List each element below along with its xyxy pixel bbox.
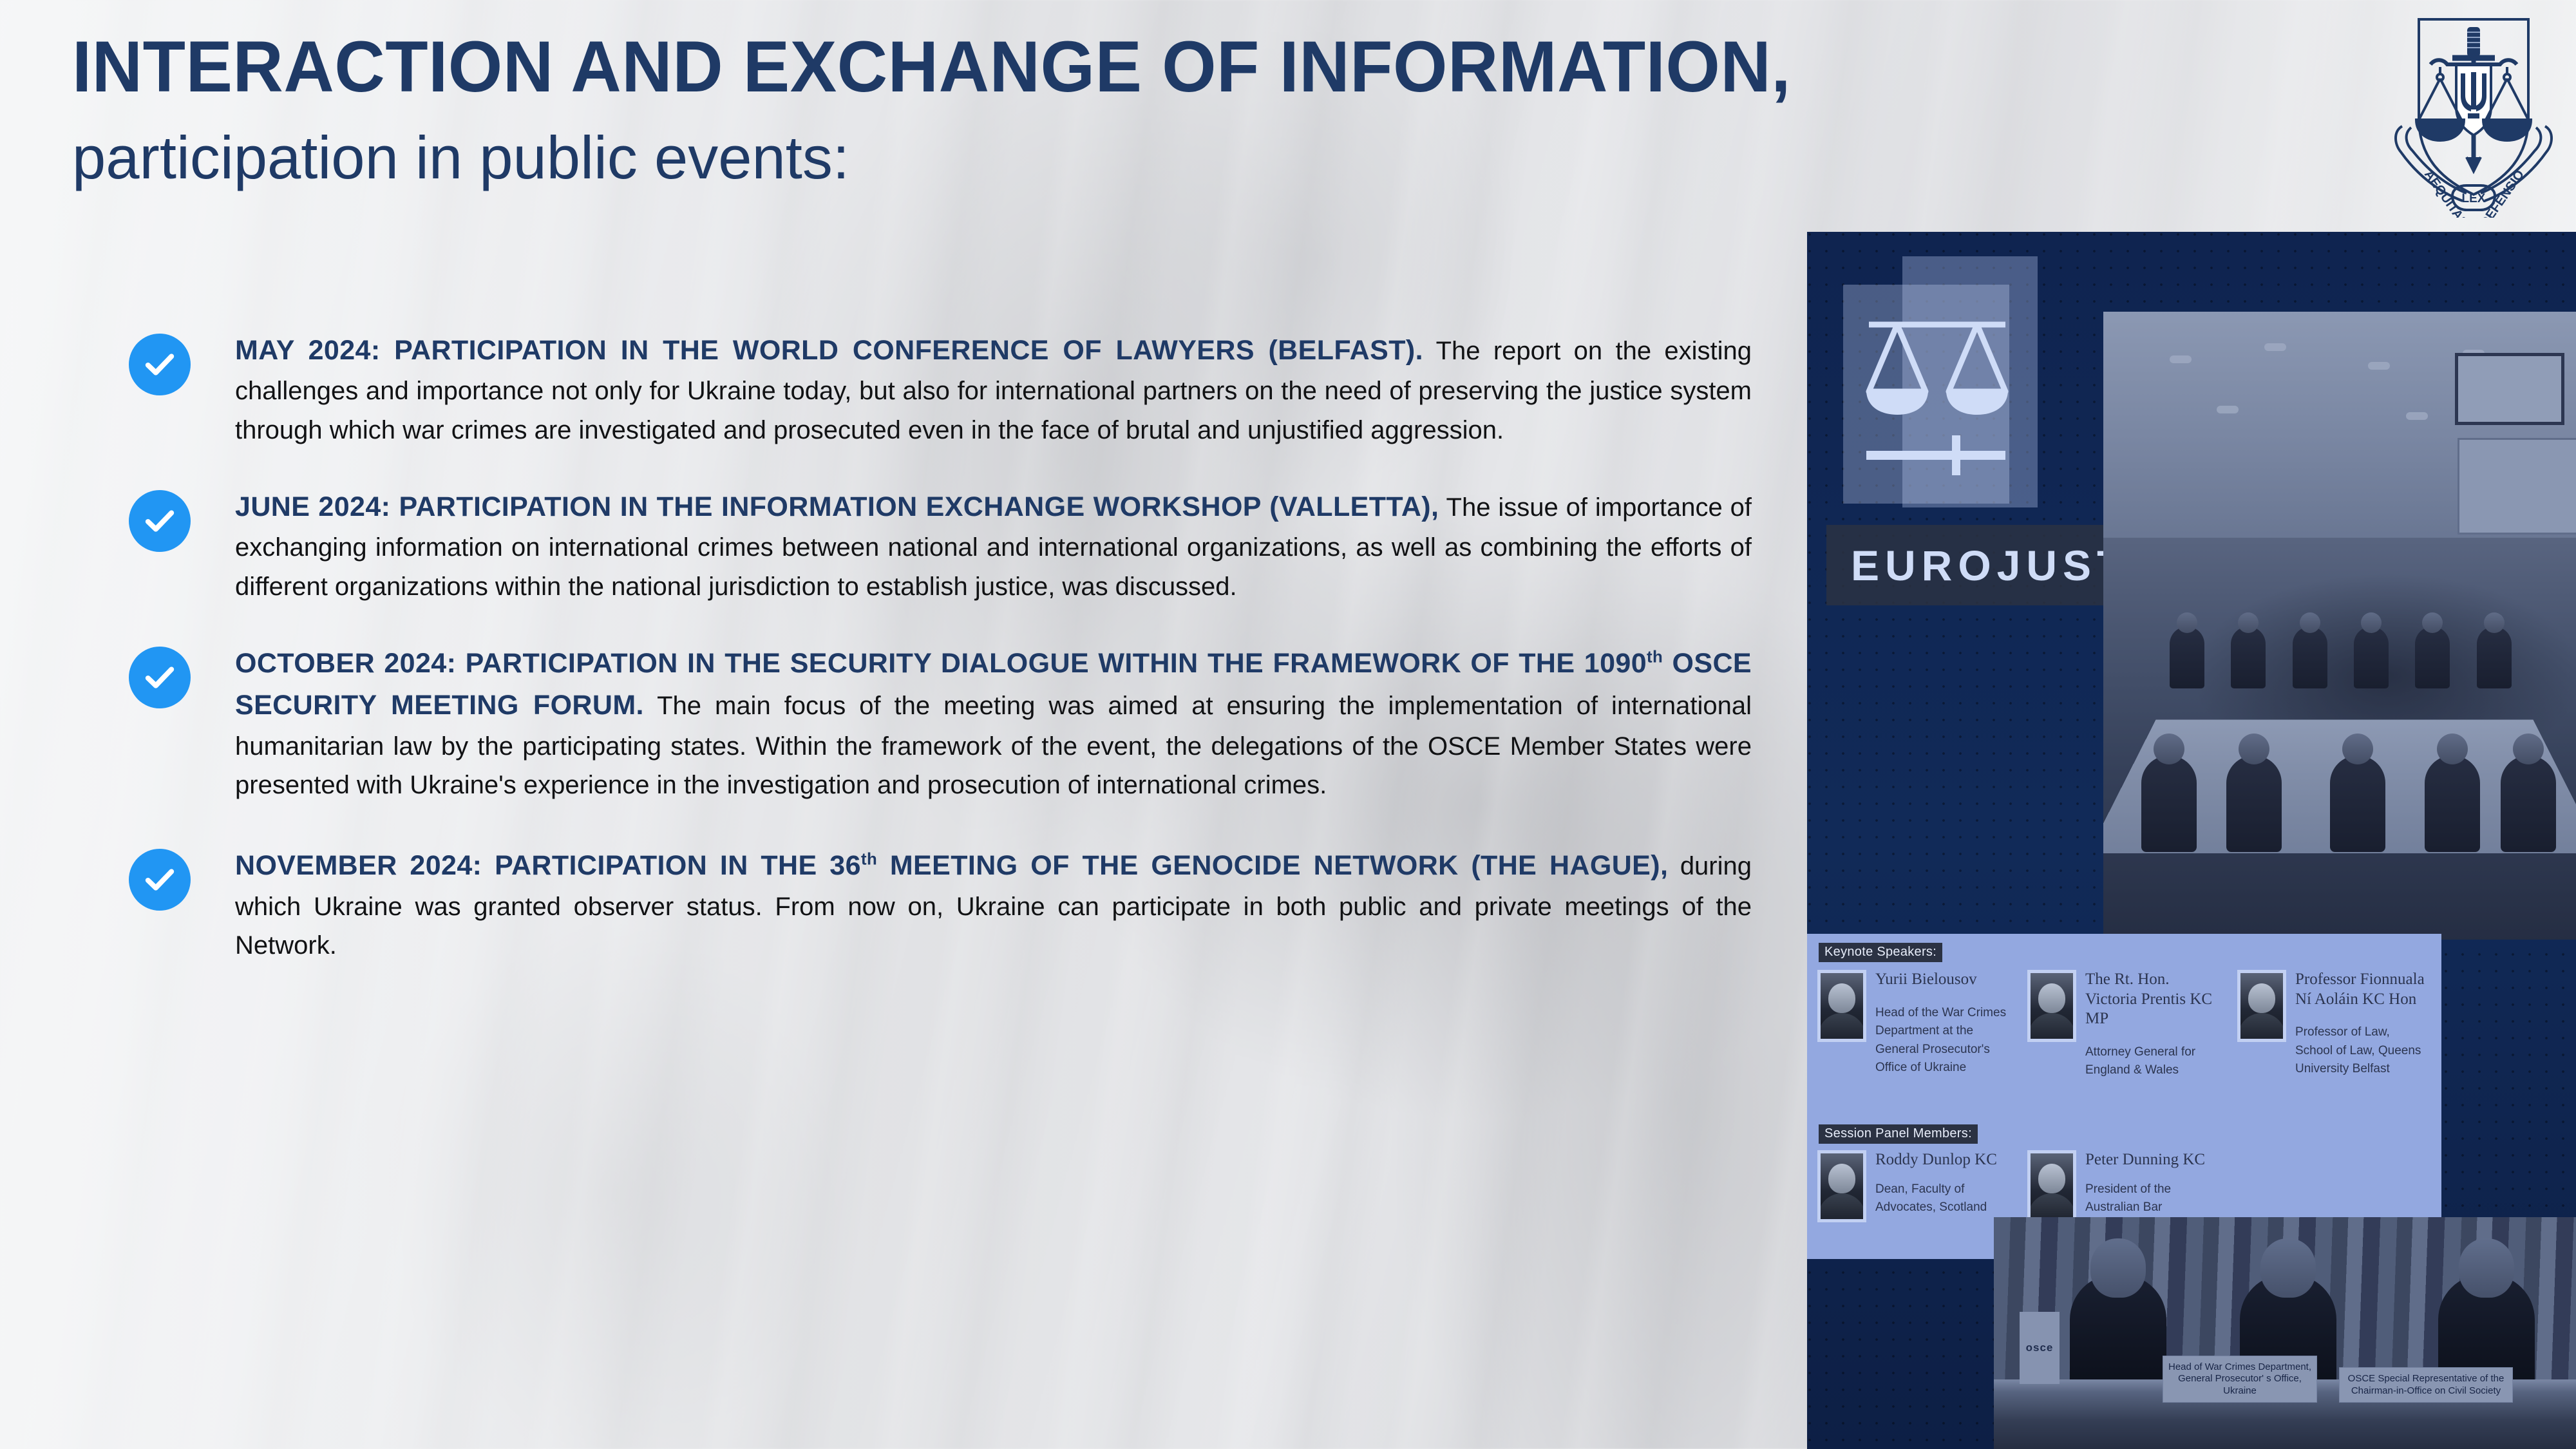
speaker-role: Attorney General for England & Wales: [2085, 1043, 2221, 1080]
list-item-text: JUNE 2024: PARTICIPATION IN THE INFORMAT…: [235, 486, 1752, 607]
list-item-lead-superscript: th: [1647, 649, 1663, 667]
check-circle-icon: [129, 647, 191, 708]
emblem-motto-center: LEX: [2462, 192, 2486, 205]
list-item-text: OCTOBER 2024: PARTICIPATION IN THE SECUR…: [235, 643, 1752, 805]
page-title-line-1: INTERACTION AND EXCHANGE OF INFORMATION,: [72, 31, 2196, 103]
speaker-name: Professor Fionnuala Ní Aoláin KC Hon: [2295, 970, 2430, 1009]
check-circle-icon: [129, 849, 191, 911]
eurojust-logo-label: EUROJUST: [1826, 525, 2110, 605]
list-item-lead: MAY 2024: PARTICIPATION IN THE WORLD CON…: [235, 335, 1423, 366]
prosecutor-general-office-emblem-icon: AEQUITAS LEX DEFENSIO: [2391, 5, 2557, 218]
speaker-name: Yurii Bielousov: [1875, 970, 2011, 990]
speaker-portrait: [2027, 970, 2076, 1042]
panel-member-card: Roddy Dunlop KC Dean, Faculty of Advocat…: [1817, 1150, 2011, 1235]
speaker-role: Head of the War Crimes Department at the…: [1875, 1004, 2011, 1077]
speaker-card: Professor Fionnuala Ní Aoláin KC Hon Pro…: [2237, 970, 2430, 1080]
speaker-card: Yurii Bielousov Head of the War Crimes D…: [1817, 970, 2011, 1080]
osce-meeting-photo: osce Head of War Crimes Department, Gene…: [1994, 1217, 2576, 1449]
check-circle-icon: [129, 490, 191, 552]
panel-member-name: Peter Dunning KC: [2085, 1150, 2221, 1170]
list-item-text: NOVEMBER 2024: PARTICIPATION IN THE 36th…: [235, 845, 1752, 965]
panel-member-role: Dean, Faculty of Advocates, Scotland: [1875, 1180, 2011, 1217]
speakers-card: Keynote Speakers: Yurii Bielousov Head o…: [1807, 934, 2441, 1259]
list-item-lead-pre: NOVEMBER 2024: PARTICIPATION IN THE 36: [235, 850, 861, 881]
photo-blue-tint: [2103, 312, 2576, 940]
photo-blue-tint: [1994, 1217, 2576, 1449]
speaker-role: Professor of Law, School of Law, Queens …: [2295, 1023, 2430, 1079]
scales-of-justice-icon: [1857, 301, 2017, 488]
events-bullet-list: MAY 2024: PARTICIPATION IN THE WORLD CON…: [129, 330, 1752, 965]
list-item: NOVEMBER 2024: PARTICIPATION IN THE 36th…: [129, 845, 1752, 965]
page-header: INTERACTION AND EXCHANGE OF INFORMATION,…: [72, 31, 2262, 188]
list-item-lead-superscript: th: [861, 851, 877, 869]
keynote-speakers-row: Yurii Bielousov Head of the War Crimes D…: [1817, 970, 2436, 1080]
panel-member-name: Roddy Dunlop KC: [1875, 1150, 2011, 1170]
keynote-speakers-tag: Keynote Speakers:: [1819, 943, 1942, 962]
list-item: MAY 2024: PARTICIPATION IN THE WORLD CON…: [129, 330, 1752, 450]
panel-member-portrait: [1817, 1150, 1866, 1222]
right-image-panel: EUROJUST Keynote Speakers:: [1807, 232, 2576, 1449]
eurojust-logo-text: EUROJUST: [1851, 541, 2128, 590]
list-item-text: MAY 2024: PARTICIPATION IN THE WORLD CON…: [235, 330, 1752, 450]
session-panel-members-tag: Session Panel Members:: [1819, 1124, 1978, 1144]
speaker-name: The Rt. Hon. Victoria Prentis KC MP: [2085, 970, 2221, 1029]
list-item-lead: NOVEMBER 2024: PARTICIPATION IN THE 36th…: [235, 850, 1668, 881]
list-item: OCTOBER 2024: PARTICIPATION IN THE SECUR…: [129, 643, 1752, 805]
list-item-lead: JUNE 2024: PARTICIPATION IN THE INFORMAT…: [235, 491, 1439, 522]
conference-room-photo: [2103, 312, 2576, 940]
list-item: JUNE 2024: PARTICIPATION IN THE INFORMAT…: [129, 486, 1752, 607]
check-circle-icon: [129, 334, 191, 395]
list-item-lead-pre: OCTOBER 2024: PARTICIPATION IN THE SECUR…: [235, 648, 1647, 679]
speaker-portrait: [2237, 970, 2286, 1042]
page-title-line-2: participation in public events:: [72, 128, 2262, 188]
panel-member-portrait: [2027, 1150, 2076, 1222]
list-item-lead-post: MEETING OF THE GENOCIDE NETWORK (THE HAG…: [877, 850, 1668, 881]
speaker-portrait: [1817, 970, 1866, 1042]
eurojust-branding: EUROJUST: [1820, 251, 2123, 638]
speaker-card: The Rt. Hon. Victoria Prentis KC MP Atto…: [2027, 970, 2221, 1080]
